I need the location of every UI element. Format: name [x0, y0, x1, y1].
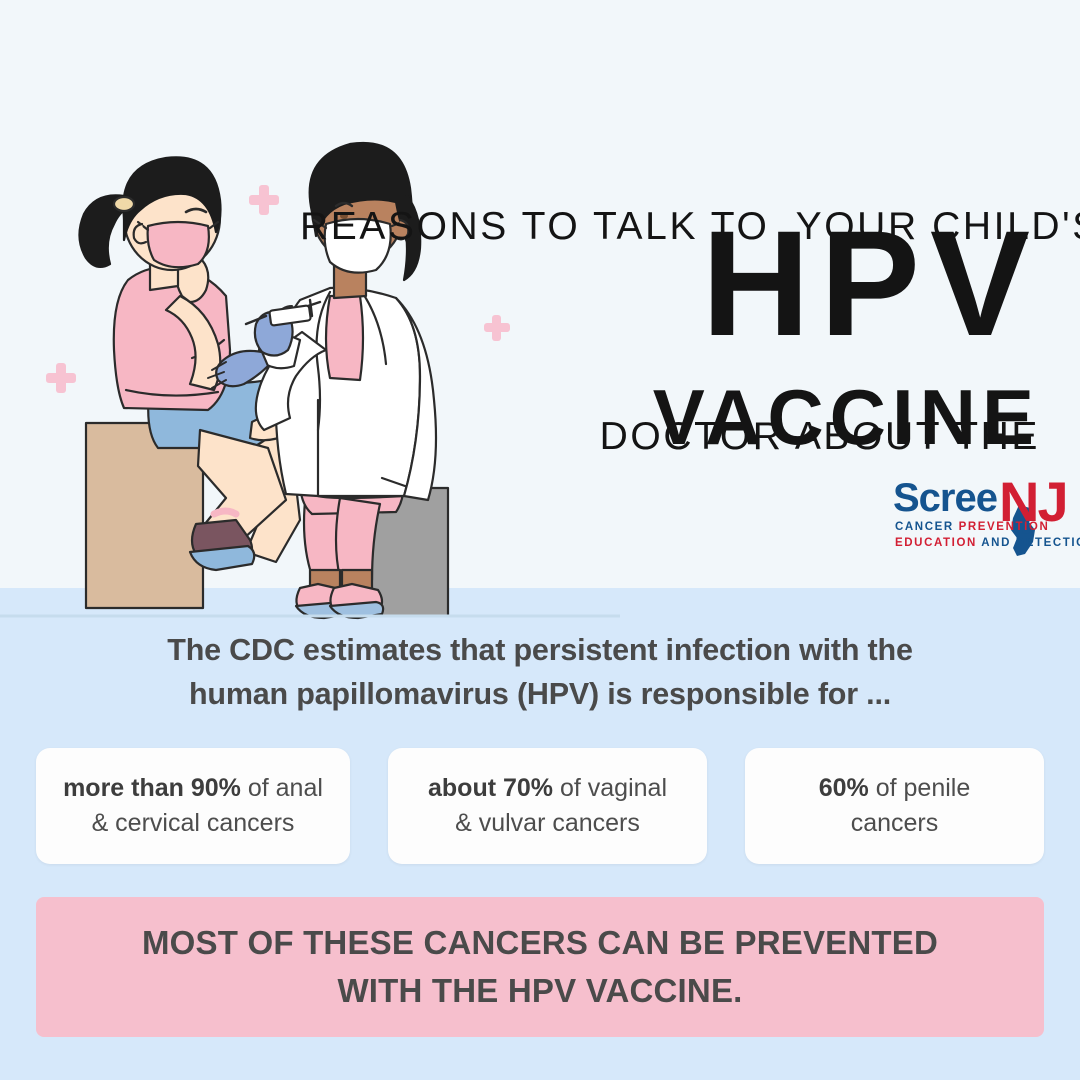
- logo-tagline-and-detection: AND DETECTION: [981, 537, 1080, 549]
- stat-line-2: cancers: [851, 809, 939, 837]
- stat-card-penile: 60% of penile cancers: [745, 748, 1044, 864]
- stat-card-anal-cervical: more than 90% of anal & cervical cancers: [36, 748, 350, 864]
- logo-tagline-prevention: PREVENTION: [959, 521, 1050, 533]
- stat-rest: of vaginal: [553, 774, 667, 802]
- stat-emphasis: 60%: [819, 774, 869, 802]
- stat-emphasis: more than 90%: [63, 774, 241, 802]
- stat-card-text: 60% of penile cancers: [819, 771, 971, 841]
- logo-wordmark-screen: Scree: [893, 478, 997, 518]
- cdc-statement-line-2: human papillomavirus (HPV) is responsibl…: [60, 672, 1020, 716]
- cdc-statement: The CDC estimates that persistent infect…: [60, 628, 1020, 716]
- stat-emphasis: about 70%: [428, 774, 553, 802]
- stat-card-text: about 70% of vaginal & vulvar cancers: [428, 771, 667, 841]
- logo-tagline-education: EDUCATION: [895, 537, 981, 549]
- cdc-statement-line-1: The CDC estimates that persistent infect…: [60, 628, 1020, 672]
- page-title-vaccine: VACCINE: [653, 378, 1040, 456]
- banner-line-1: MOST OF THESE CANCERS CAN BE PREVENTED: [142, 919, 938, 967]
- logo-tagline-line-2: EDUCATION AND DETECTION: [895, 536, 1080, 550]
- call-to-action-banner: MOST OF THESE CANCERS CAN BE PREVENTED W…: [36, 897, 1044, 1037]
- stat-card-vaginal-vulvar: about 70% of vaginal & vulvar cancers: [388, 748, 707, 864]
- screennj-logo[interactable]: Scree NJ CANCER PREVENTION EDUCATION AND…: [893, 478, 1053, 562]
- stat-line-2: & vulvar cancers: [455, 809, 640, 837]
- page-title-hpv: HPV: [702, 208, 1040, 358]
- statistics-card-list: more than 90% of anal & cervical cancers…: [36, 748, 1044, 864]
- stat-rest: of penile: [869, 774, 970, 802]
- logo-tagline-line-1: CANCER PREVENTION: [895, 520, 1049, 534]
- banner-line-2: WITH THE HPV VACCINE.: [142, 967, 938, 1015]
- banner-text: MOST OF THESE CANCERS CAN BE PREVENTED W…: [142, 919, 938, 1015]
- infographic-poster: REASONS TO TALK TO YOUR CHILD'S DOCTOR A…: [0, 0, 1080, 1080]
- stat-line-2: & cervical cancers: [92, 809, 295, 837]
- logo-tagline-cancer: CANCER: [895, 521, 959, 533]
- stat-rest: of anal: [241, 774, 323, 802]
- stat-card-text: more than 90% of anal & cervical cancers: [63, 771, 323, 841]
